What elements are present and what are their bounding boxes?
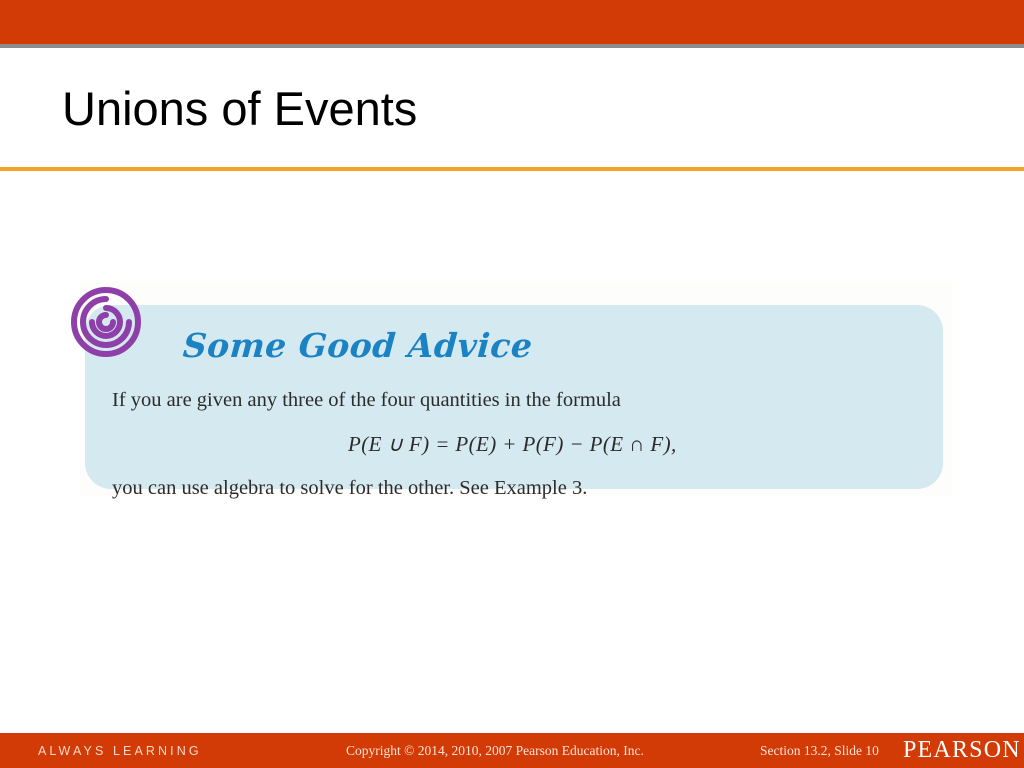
title-area: Unions of Events [0, 48, 1024, 168]
advice-intro-text: If you are given any three of the four q… [112, 387, 621, 413]
footer-section-slide-number: Section 13.2, Slide 10 [760, 743, 879, 759]
footer-copyright: Copyright © 2014, 2010, 2007 Pearson Edu… [346, 743, 644, 759]
advice-conclusion-text: you can use algebra to solve for the oth… [112, 475, 587, 501]
slide-content-area: Some Good Advice If you are given any th… [0, 171, 1024, 733]
probability-union-formula: P(E ∪ F) = P(E) + P(F) − P(E ∩ F), [348, 431, 677, 457]
advice-callout-box: Some Good Advice If you are given any th… [85, 305, 943, 489]
spiral-icon [71, 287, 141, 357]
top-banner-bar [0, 0, 1024, 44]
some-good-advice-figure: Some Good Advice If you are given any th… [80, 281, 952, 496]
footer-tagline: ALWAYS LEARNING [38, 744, 202, 758]
page-title: Unions of Events [62, 81, 417, 137]
advice-heading: Some Good Advice [182, 327, 534, 365]
pearson-logo: PEARSON [903, 737, 1021, 764]
footer-bar: ALWAYS LEARNING Copyright © 2014, 2010, … [0, 733, 1024, 768]
